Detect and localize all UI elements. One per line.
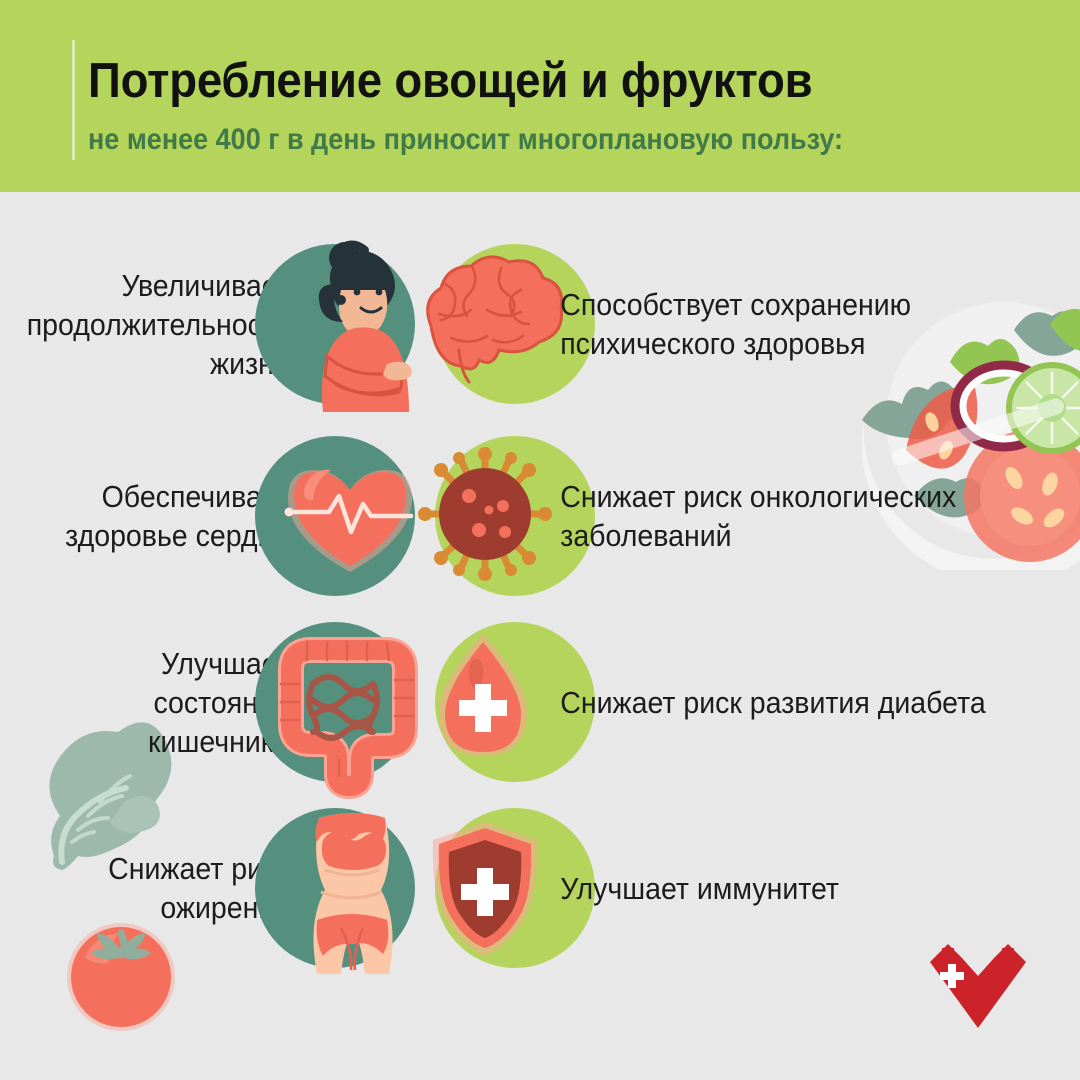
body-torso-icon <box>323 800 415 976</box>
header-banner: Потребление овощей и фруктов не менее 40… <box>0 0 1080 192</box>
benefit-row: Снижает риск ожирения <box>0 800 1080 976</box>
benefit-label-diabetes-risk: Снижает риск развития диабета <box>540 683 1037 722</box>
benefit-label-cancer-risk: Снижает риск онкологических заболеваний <box>540 477 1037 555</box>
benefit-label-immunity: Улучшает иммунитет <box>540 869 1037 908</box>
page-subtitle: не менее 400 г в день приносит многоплан… <box>88 122 843 158</box>
person-icon <box>323 236 415 412</box>
blood-drop-cross-icon <box>435 614 527 790</box>
benefit-row: Обеспечивает здоровье сердца <box>0 428 1080 604</box>
virus-cell-icon <box>435 428 527 604</box>
infographic-page: Потребление овощей и фруктов не менее 40… <box>0 0 1080 1080</box>
page-title: Потребление овощей и фруктов <box>88 52 812 110</box>
benefit-icon-pair <box>310 800 540 976</box>
benefit-row: Увеличивает продолжительность жизни <box>0 236 1080 412</box>
benefit-icon-pair <box>310 428 540 604</box>
header-divider-rule <box>72 40 75 160</box>
benefit-icon-pair <box>310 236 540 412</box>
benefit-icon-pair <box>310 614 540 790</box>
heart-pulse-icon <box>323 428 415 604</box>
benefits-list: Увеличивает продолжительность жизни <box>0 192 1080 1080</box>
benefit-row: Улучшает состояние кишечника <box>0 614 1080 790</box>
intestines-icon <box>323 614 415 790</box>
brain-icon <box>435 236 527 412</box>
benefit-label-mental-health: Способствует сохранению психического здо… <box>540 285 1037 363</box>
shield-cross-icon <box>435 800 527 976</box>
